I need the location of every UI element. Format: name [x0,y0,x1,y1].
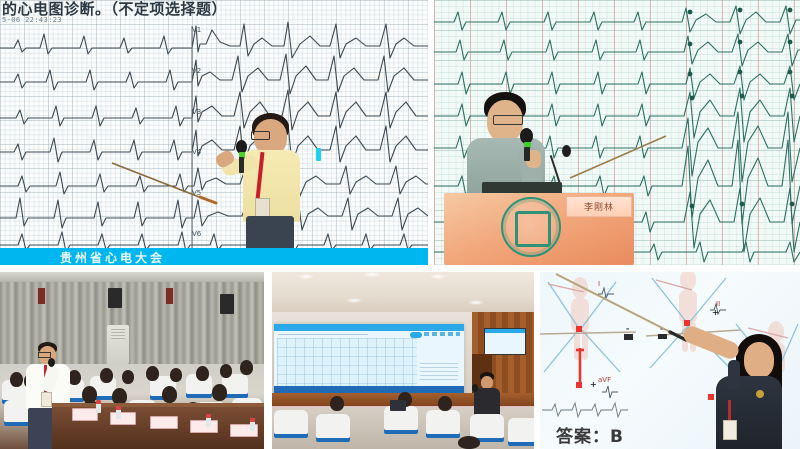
water-bottle [206,414,211,427]
desk-nametag [72,408,98,421]
photo-lecture-hall [272,272,534,449]
hospital-emblem-icon [501,197,561,257]
audience-member [458,436,480,449]
audience-member [212,384,227,401]
audience-member [438,396,452,411]
chair [426,410,460,438]
chair [508,418,534,446]
gooseneck-mic-head [562,145,571,157]
audience-member [220,364,232,378]
banner-text: 贵州省心电大会 [60,249,165,265]
female-presenter-badge [723,420,737,440]
air-conditioner-unit [107,325,129,364]
speaker-nameplate-text: 李刚林 [584,200,614,213]
wall-fixture-mid [166,288,173,304]
photo-ecg-lecture-left: 的心电图诊断。（不定项选择题） 5-06 22:43:23 V1 V2 V3 V… [0,0,428,265]
audience-member [196,366,209,381]
audience-member [170,368,182,382]
ceiling-light [430,274,446,279]
slide-answer-text: 答案：B [556,422,624,447]
desk-nametag [150,416,178,429]
female-presenter-microphone [728,360,740,390]
ceiling-light [298,274,314,279]
wall-fixture-left [38,288,45,304]
slide-data-table [420,363,458,383]
slide-header-pill-icon [410,332,422,338]
podium-microphone-body [524,147,530,161]
water-bottle [116,406,121,419]
photo-einthoven-slide: - + - + - + I II aVF 答案：B [540,272,800,449]
slide-header-text [424,332,460,336]
ceiling-light [364,272,380,277]
desk-nametag [190,420,218,433]
presenter-glasses [38,352,51,358]
microphone-body [239,157,244,173]
bottom-blue-banner: 贵州省心电大会 [0,248,428,265]
water-bottle [250,418,255,431]
wall-speaker-right [220,294,234,314]
laptop [390,400,406,411]
audience-member [122,370,134,384]
chair [274,410,308,438]
hall-presenter-microphone [472,384,478,392]
audience-member [146,366,159,381]
audience-member [100,368,113,383]
audience-member [330,396,344,411]
desk-nametag [110,412,136,425]
presenter-microphone [48,358,55,367]
audience-member [240,360,253,375]
audience-member [162,386,177,403]
female-presenter-brooch [756,390,764,398]
audience-member [10,372,23,387]
wall-speaker-left [108,288,122,308]
female-presenter-head [744,342,774,378]
slide-ecg-grid [277,338,417,386]
speaker-nameplate: 李刚林 [566,196,632,217]
presenter-badge [41,392,52,407]
photo-audience-room [0,272,264,449]
slide-text-line [278,334,368,335]
projection-screen [274,324,464,396]
pointer-stick-svg [0,0,428,265]
speaker-glasses [251,131,270,140]
podium-speaker-glasses [493,115,523,125]
ceiling-light [346,298,362,303]
water-bottle [96,400,101,413]
speaker-trousers [246,216,294,248]
side-monitor [484,328,526,355]
collage-root: 的心电图诊断。（不定项选择题） 5-06 22:43:23 V1 V2 V3 V… [0,0,800,449]
room-ceiling [0,272,264,282]
photo-podium-speaker: 李刚林 [434,0,800,265]
chair [316,414,350,442]
ceiling-light [468,300,484,305]
